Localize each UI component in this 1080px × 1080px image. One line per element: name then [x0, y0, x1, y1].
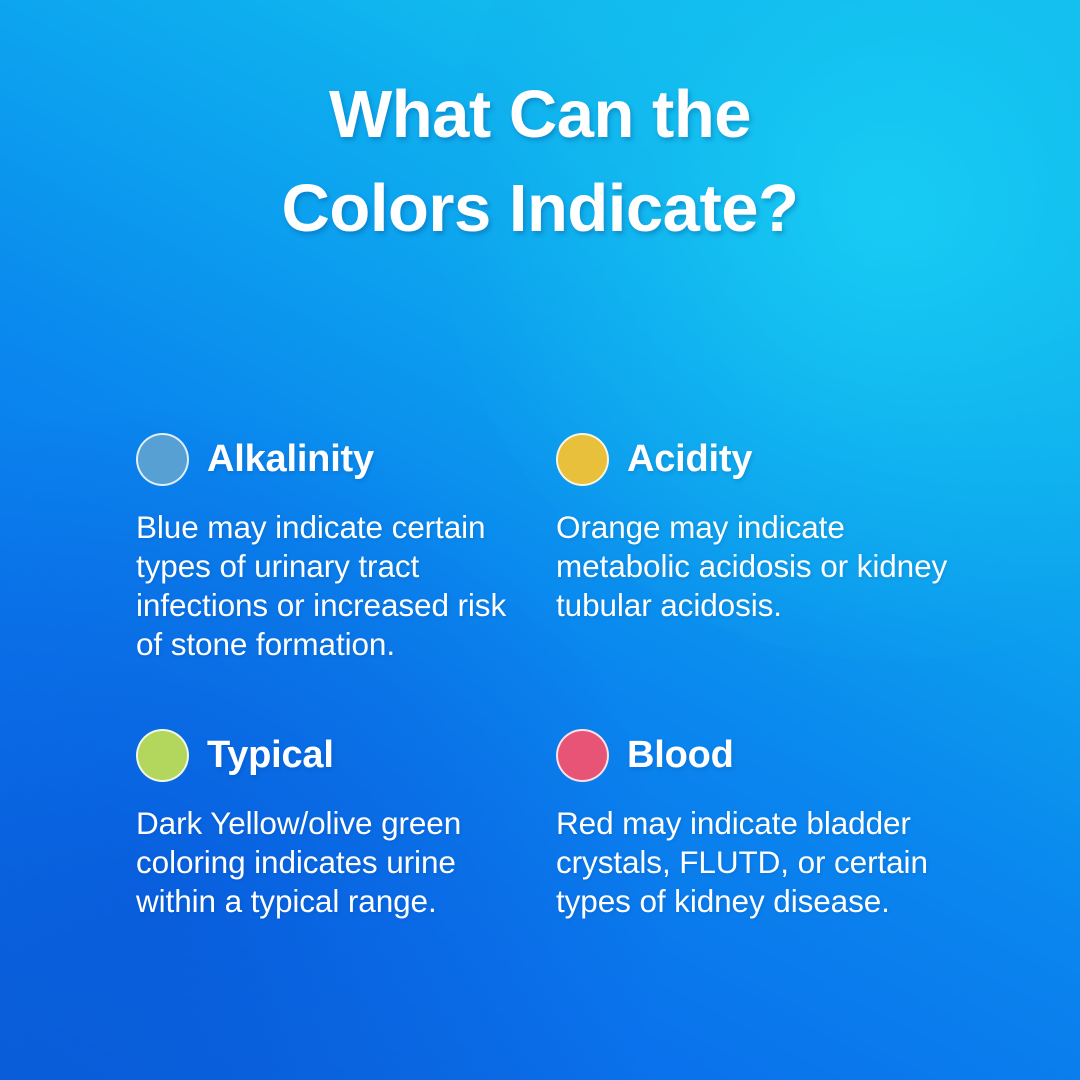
legend-item-blood: Blood Red may indicate bladder crystals,…: [556, 726, 976, 921]
orange-circle-swatch-icon: [556, 433, 609, 486]
legend-item-title: Blood: [627, 734, 734, 777]
legend-row-1: Alkalinity Blue may indicate certain typ…: [136, 430, 976, 664]
legend-item-header: Blood: [556, 726, 954, 784]
legend-item-typical: Typical Dark Yellow/olive green coloring…: [136, 726, 556, 921]
legend-item-title: Typical: [207, 734, 334, 777]
infographic-poster: What Can the Colors Indicate? Alkalinity…: [0, 0, 1080, 1080]
legend-item-title: Alkalinity: [207, 438, 374, 481]
legend-item-alkalinity: Alkalinity Blue may indicate certain typ…: [136, 430, 556, 664]
red-circle-swatch-icon: [556, 729, 609, 782]
legend-item-description: Orange may indicate metabolic acidosis o…: [556, 508, 954, 625]
legend-item-header: Typical: [136, 726, 534, 784]
green-circle-swatch-icon: [136, 729, 189, 782]
legend-item-acidity: Acidity Orange may indicate metabolic ac…: [556, 430, 976, 664]
title-line-2: Colors Indicate?: [0, 162, 1080, 256]
title-line-1: What Can the: [0, 68, 1080, 162]
color-legend-grid: Alkalinity Blue may indicate certain typ…: [136, 430, 976, 921]
legend-item-title: Acidity: [627, 438, 752, 481]
legend-item-description: Red may indicate bladder crystals, FLUTD…: [556, 804, 954, 921]
poster-title: What Can the Colors Indicate?: [0, 68, 1080, 256]
blue-circle-swatch-icon: [136, 433, 189, 486]
legend-item-header: Alkalinity: [136, 430, 534, 488]
legend-item-description: Blue may indicate certain types of urina…: [136, 508, 534, 664]
legend-item-header: Acidity: [556, 430, 954, 488]
legend-row-2: Typical Dark Yellow/olive green coloring…: [136, 726, 976, 921]
legend-item-description: Dark Yellow/olive green coloring indicat…: [136, 804, 534, 921]
